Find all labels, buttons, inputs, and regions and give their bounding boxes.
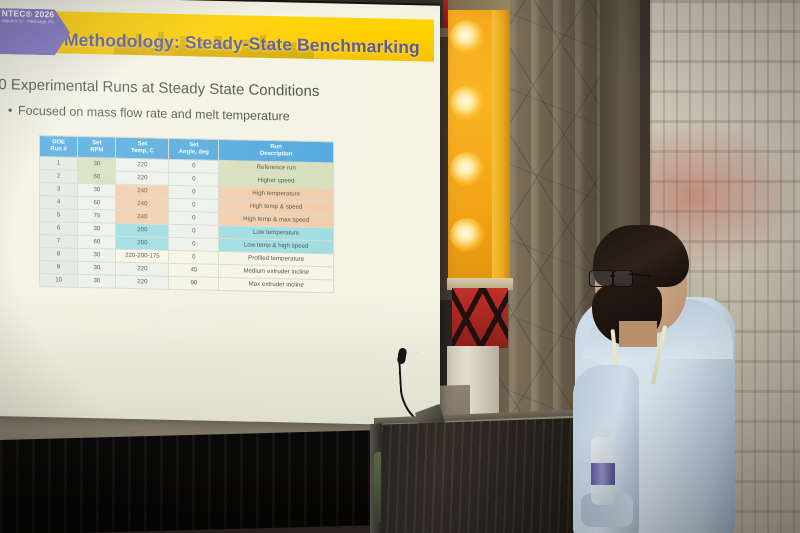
cell-temp: 220-200-175 [116, 250, 169, 264]
slide-bullet: •Focused on mass flow rate and melt temp… [8, 103, 368, 125]
cell-run: 1 [40, 157, 78, 171]
cell-run: 4 [40, 196, 78, 210]
column-side [492, 8, 510, 290]
cell-temp: 220 [116, 263, 169, 277]
cell-rpm: 30 [78, 184, 116, 198]
cell-temp: 220 [116, 276, 169, 290]
cell-temp: 240 [116, 185, 169, 199]
speaker [545, 225, 760, 533]
column-bulb-icon [450, 218, 484, 252]
table-header-cell-3: SetAngle, deg [169, 138, 219, 160]
speaker-glasses-icon [589, 270, 641, 286]
cell-rpm: 60 [78, 236, 116, 250]
table-header-cell-4: RunDescription [219, 139, 334, 163]
cell-temp: 240 [116, 198, 169, 212]
cell-rpm: 30 [78, 249, 116, 263]
cell-angle: 0 [169, 251, 219, 265]
cell-rpm: 60 [78, 171, 116, 185]
column-cap [448, 0, 510, 10]
water-bottle-label [591, 463, 615, 485]
cell-temp: 200 [116, 224, 169, 238]
cell-angle: 0 [169, 212, 219, 226]
cell-run: 7 [40, 235, 78, 249]
table-body: 1302200Reference run2602200Higher speed3… [40, 157, 334, 293]
cell-run: 9 [40, 261, 78, 275]
cell-run: 2 [40, 170, 78, 184]
column-bulb-icon [450, 20, 484, 54]
cell-angle: 0 [169, 186, 219, 200]
cell-angle: 0 [169, 173, 219, 187]
cell-rpm: 30 [78, 223, 116, 237]
cell-temp: 220 [116, 159, 169, 173]
cell-rpm: 60 [78, 197, 116, 211]
cell-temp: 240 [116, 211, 169, 225]
cell-run: 5 [40, 209, 78, 223]
doe-run-table: DOERun #SetRPMSetTemp, CSetAngle, degRun… [39, 135, 334, 294]
cell-rpm: 75 [78, 210, 116, 224]
cell-angle: 45 [169, 264, 219, 278]
cell-description: Max extruder incline [219, 278, 334, 294]
cell-run: 6 [40, 222, 78, 236]
projection-screen: Methodology: Steady-State Benchmarking N… [0, 0, 440, 426]
illuminated-orange-column [448, 0, 510, 290]
cell-rpm: 30 [78, 262, 116, 276]
bullet-marker-icon: • [8, 103, 18, 117]
table-header-cell-2: SetTemp, C [116, 137, 169, 160]
cell-rpm: 30 [78, 275, 116, 289]
cell-run: 8 [40, 248, 78, 262]
cell-angle: 0 [169, 199, 219, 213]
slide-bullet-text: Focused on mass flow rate and melt tempe… [18, 104, 290, 124]
table-header-cell-1: SetRPM [78, 136, 116, 158]
cell-angle: 90 [169, 277, 219, 291]
cell-rpm: 30 [78, 158, 116, 172]
cell-angle: 0 [169, 160, 219, 174]
cell-temp: 200 [116, 237, 169, 251]
cell-run: 10 [40, 274, 78, 288]
column-bulb-icon [450, 152, 484, 186]
cell-temp: 220 [116, 172, 169, 186]
slide-heading: 10 Experimental Runs at Steady State Con… [0, 76, 350, 101]
table-header-cell-0: DOERun # [40, 135, 78, 157]
red-lattice-panel [452, 288, 508, 348]
conference-room-photo: Methodology: Steady-State Benchmarking N… [0, 0, 800, 533]
column-bulb-icon [450, 86, 484, 120]
cell-angle: 0 [169, 225, 219, 239]
cell-angle: 0 [169, 238, 219, 252]
podium-accent-strip [374, 452, 381, 522]
cell-run: 3 [40, 183, 78, 197]
speaker-neck [619, 321, 657, 347]
